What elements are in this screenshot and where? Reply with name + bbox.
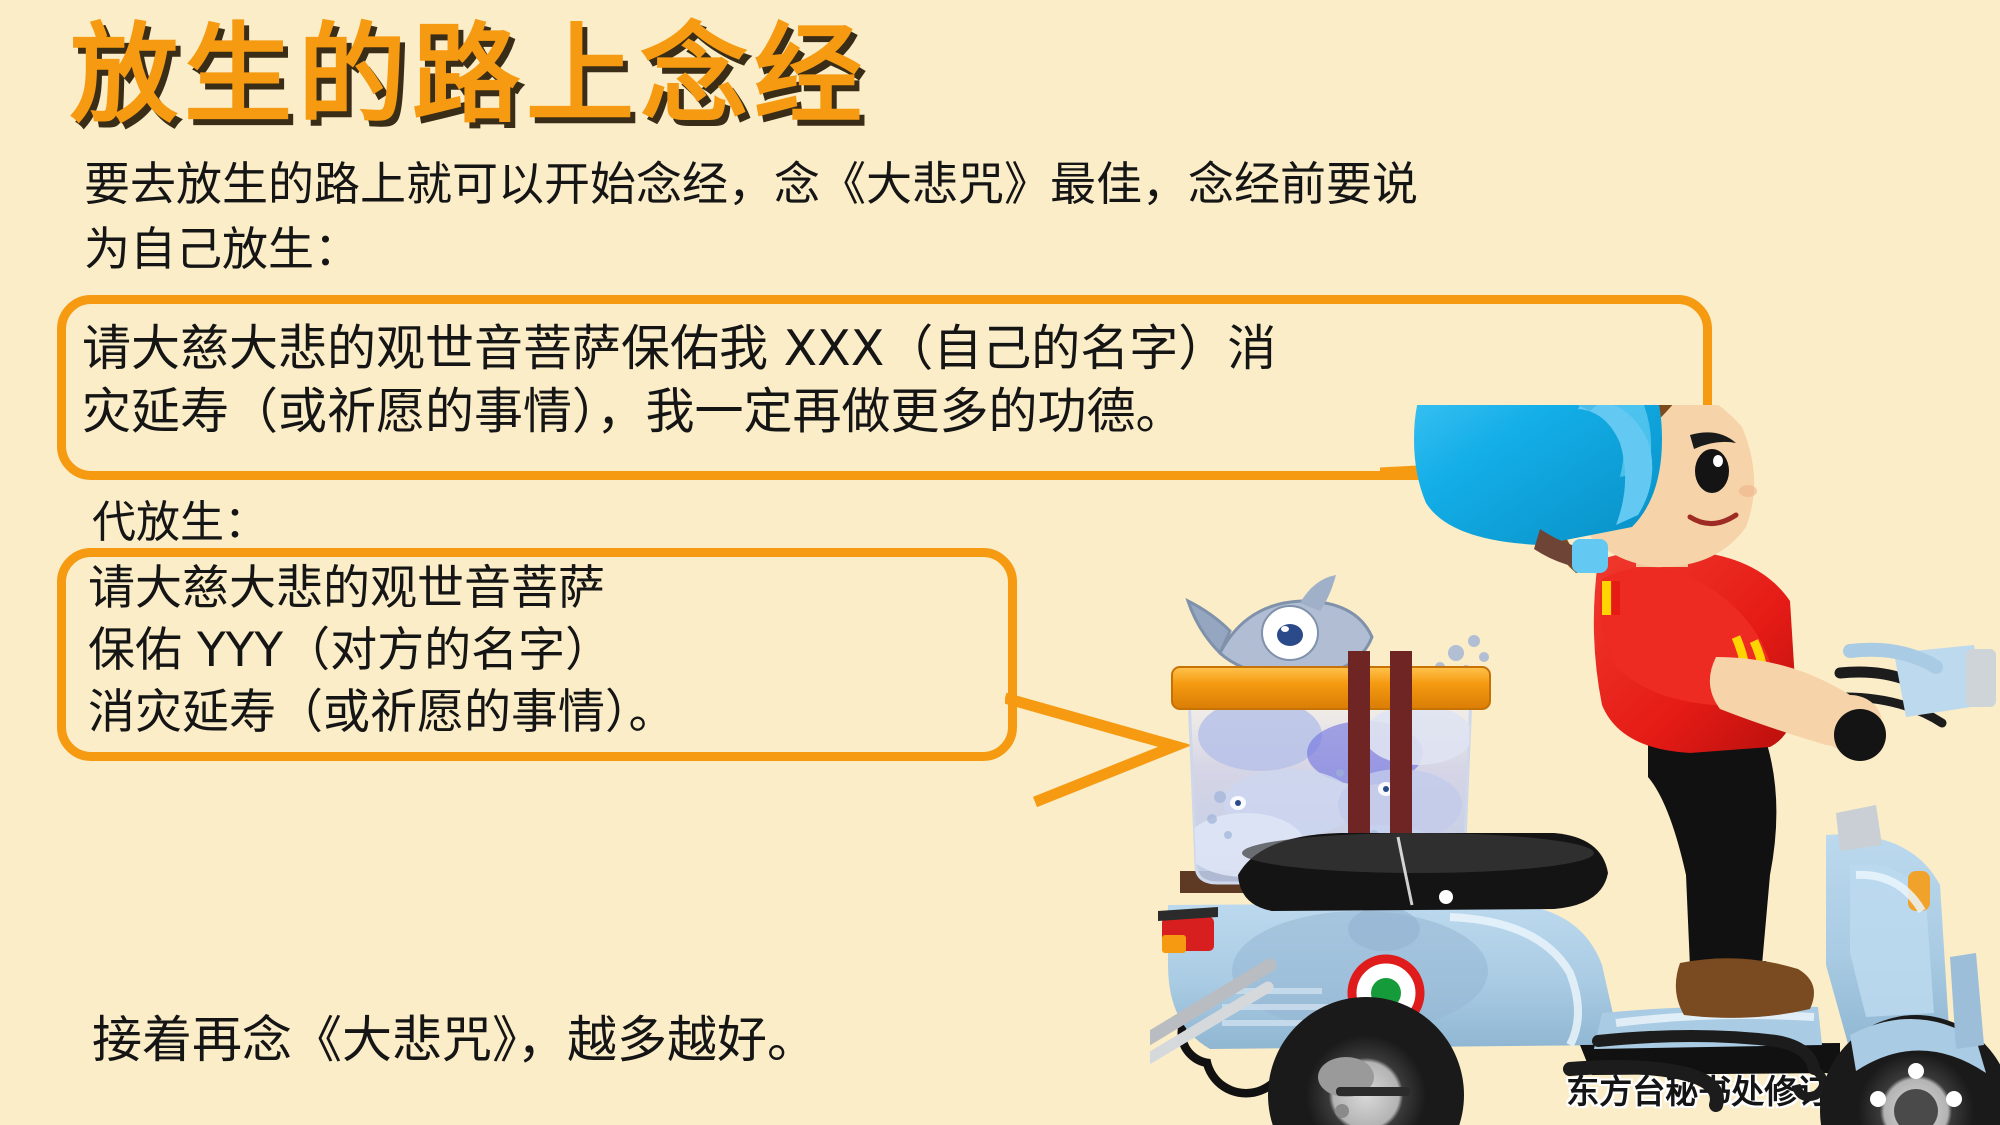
scooter-rider-illustration: [1150, 405, 2000, 1125]
handlebar-grip: [1834, 709, 1886, 761]
intro-line-1: 要去放生的路上就可以开始念经，念《大悲咒》最佳，念经前要说: [84, 152, 1414, 217]
intro-paragraph: 要去放生的路上就可以开始念经，念《大悲咒》最佳，念经前要说 为自己放生：: [84, 152, 1414, 283]
bubble2-line-3: 消灾延寿（或祈愿的事情）。: [88, 682, 988, 744]
page-title: 放生的路上念经: [70, 12, 868, 139]
closing-line: 接着再念《大悲咒》，越多越好。: [92, 1000, 817, 1072]
tank-rim-bar: [1172, 667, 1490, 709]
bubble2-line-2: 保佑 YYY（对方的名字）: [88, 620, 988, 682]
speech-bubble-proxy-text: 请大慈大悲的观世音菩萨 保佑 YYY（对方的名字） 消灾延寿（或祈愿的事情）。: [88, 558, 988, 744]
intro-line-2: 为自己放生：: [84, 217, 1414, 282]
rider-leg: [1648, 729, 1776, 967]
bubble1-line-1: 请大慈大悲的观世音菩萨保佑我 XXX（自己的名字）消: [82, 318, 1702, 381]
bubble2-line-1: 请大慈大悲的观世音菩萨: [88, 558, 988, 620]
section-label-proxy-release: 代放生：: [92, 486, 268, 550]
jumping-fish-icon: [1188, 575, 1372, 677]
collar-stripes: [1602, 581, 1620, 615]
rider-shoe: [1676, 958, 1814, 1018]
